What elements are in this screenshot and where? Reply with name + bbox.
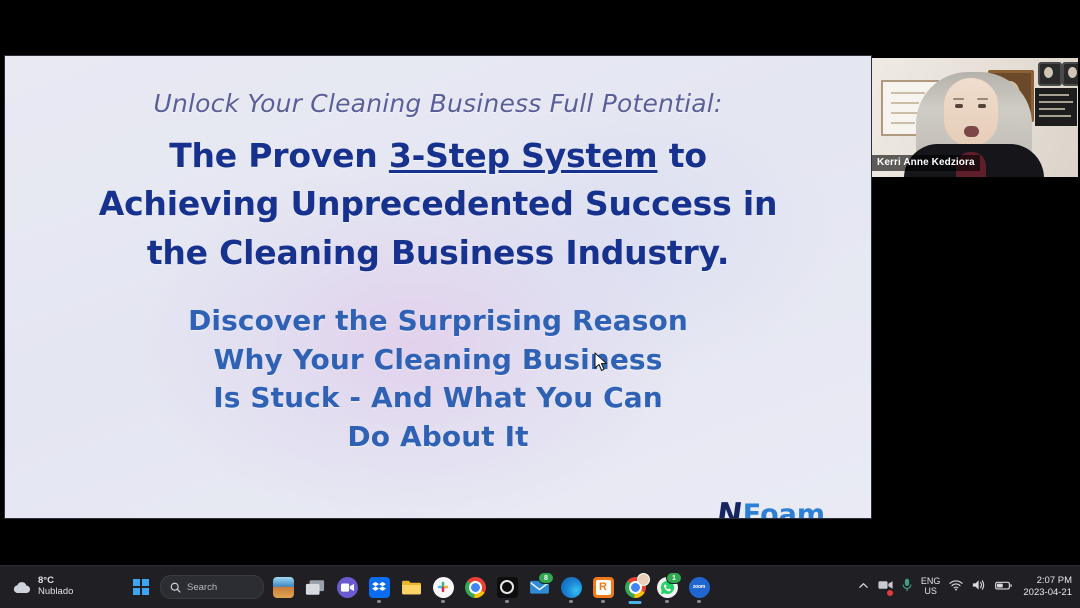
slide-headline: The Proven 3-Step System to Achieving Un… <box>88 132 788 278</box>
taskbar-item-file-explorer[interactable] <box>398 574 424 600</box>
chevron-up-icon <box>858 580 869 591</box>
shared-slide[interactable]: Unlock Your Cleaning Business Full Poten… <box>4 55 872 519</box>
taskbar-center-cluster: Search <box>128 574 712 600</box>
microphone-indicator[interactable] <box>902 578 912 597</box>
person-face <box>944 78 998 146</box>
slide-content: Unlock Your Cleaning Business Full Poten… <box>5 56 871 518</box>
slide-kicker: Unlock Your Cleaning Business Full Poten… <box>153 90 722 118</box>
battery-button[interactable] <box>995 578 1012 596</box>
show-hidden-icons-button[interactable] <box>858 578 869 596</box>
mail-unread-badge: 8 <box>538 572 554 584</box>
dropbox-icon <box>369 577 390 598</box>
rocket-app-icon: R <box>593 577 614 598</box>
subhead-line: Discover the Surprising Reason <box>78 302 798 341</box>
battery-icon <box>995 580 1012 591</box>
subhead-line: Why Your Cleaning Business <box>78 341 798 380</box>
subhead-line: Do About It <box>78 418 798 457</box>
profile-avatar <box>637 573 650 586</box>
folder-icon <box>401 579 422 596</box>
photos-icon <box>273 577 294 598</box>
taskbar-item-chrome[interactable] <box>462 574 488 600</box>
slack-icon <box>433 577 454 598</box>
rocket-app-letter: R <box>596 580 611 595</box>
mouse-cursor-icon <box>594 352 608 372</box>
cloud-icon <box>12 580 31 595</box>
volume-button[interactable] <box>972 578 986 596</box>
search-icon <box>170 582 181 593</box>
wall-photo-small <box>1038 62 1062 86</box>
taskbar-item-mail[interactable]: 8 <box>526 574 552 600</box>
system-tray: ENG US 2:07 <box>858 575 1072 598</box>
taskbar-item-microsoft-edge[interactable] <box>558 574 584 600</box>
slide-subheadline: Discover the Surprising Reason Why Your … <box>78 302 798 457</box>
language-indicator[interactable]: ENG US <box>921 577 941 596</box>
whatsapp-unread-badge: 1 <box>666 572 682 584</box>
recording-dot-indicator <box>886 589 894 597</box>
weather-condition: Nublado <box>38 587 73 598</box>
taskbar-item-chrome-profile[interactable] <box>622 574 648 600</box>
windows-taskbar[interactable]: 8°C Nublado Search <box>0 565 1080 608</box>
participant-name-label: Kerri Anne Kedziora <box>872 155 980 171</box>
taskbar-item-photos[interactable] <box>270 574 296 600</box>
taskbar-item-whatsapp[interactable]: 1 <box>654 574 680 600</box>
camera-app-icon <box>497 577 518 598</box>
taskbar-item-zoom-meeting[interactable]: zoom <box>686 574 712 600</box>
speaker-icon <box>972 579 986 591</box>
task-view-icon <box>305 579 325 596</box>
clock-widget[interactable]: 2:07 PM 2023-04-21 <box>1023 575 1072 598</box>
edge-icon <box>561 577 582 598</box>
headline-part-1: The Proven <box>169 136 389 175</box>
zoom-icon <box>337 577 358 598</box>
clock-date: 2023-04-21 <box>1023 587 1072 599</box>
video-stage: Unlock Your Cleaning Business Full Poten… <box>0 0 1080 608</box>
taskbar-item-slack[interactable] <box>430 574 456 600</box>
network-button[interactable] <box>949 578 963 596</box>
microphone-icon <box>902 578 912 592</box>
taskbar-weather-widget[interactable]: 8°C Nublado <box>12 576 108 597</box>
chrome-icon <box>465 577 486 598</box>
wall-photo-small <box>1062 62 1078 86</box>
language-line-2: US <box>921 587 941 597</box>
headline-underlined-phrase: 3-Step System <box>389 136 658 175</box>
windows-logo-icon <box>133 579 149 595</box>
subhead-line: Is Stuck - And What You Can <box>78 379 798 418</box>
taskbar-item-task-view[interactable] <box>302 574 328 600</box>
taskbar-item-obs-studio[interactable] <box>494 574 520 600</box>
taskbar-item-rocket-app[interactable]: R <box>590 574 616 600</box>
start-button[interactable] <box>128 574 154 600</box>
participant-video-tile[interactable]: Kerri Anne Kedziora <box>872 58 1078 177</box>
zoom-meeting-icon: zoom <box>689 577 710 598</box>
taskbar-item-dropbox[interactable] <box>366 574 392 600</box>
wifi-icon <box>949 580 963 591</box>
search-input[interactable]: Search <box>160 575 264 599</box>
camera-in-use-indicator[interactable] <box>878 578 893 596</box>
taskbar-item-zoom[interactable] <box>334 574 360 600</box>
clock-time: 2:07 PM <box>1023 575 1072 587</box>
search-placeholder: Search <box>187 582 217 593</box>
wall-sign-plaque <box>1035 88 1077 126</box>
